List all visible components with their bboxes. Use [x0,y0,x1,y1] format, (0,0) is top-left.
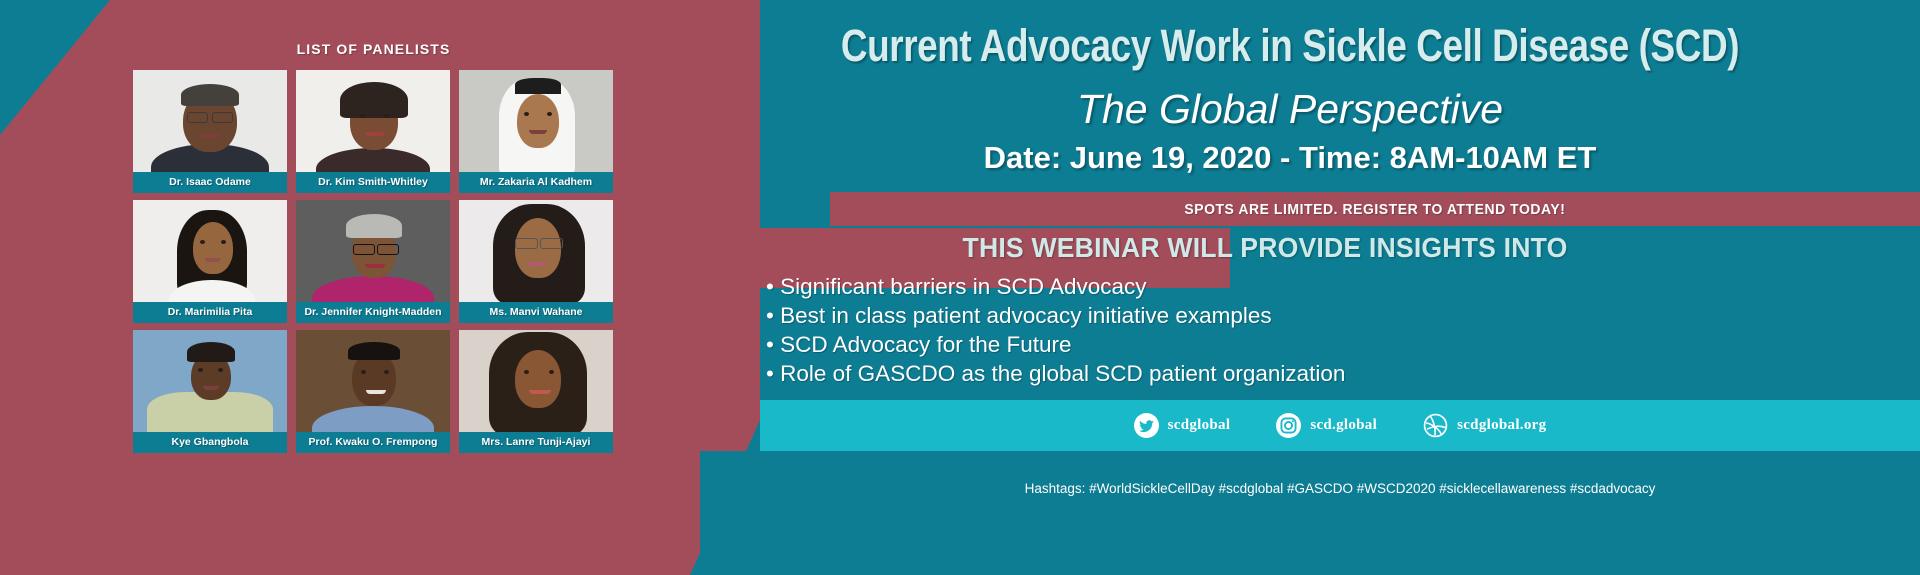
panelist-photo [133,330,287,432]
panelists-header: LIST OF PANELISTS [133,36,614,63]
panelist-name: Mrs. Lanre Tunji-Ajayi [459,432,613,453]
panelist-row: Dr. Marimilia Pita Dr. Jennifer Knight-M… [133,200,614,323]
twitter-icon [1134,413,1159,438]
social-link-website[interactable]: scdglobal.org [1423,413,1546,438]
panelist-photo [133,200,287,302]
panelist-photo [459,200,613,302]
panelist-card[interactable]: Mr. Zakaria Al Kadhem [459,70,613,193]
panelist-card[interactable]: Mrs. Lanre Tunji-Ajayi [459,330,613,453]
page-title: Current Advocacy Work in Sickle Cell Dis… [773,22,1806,69]
hashtags-text: Hashtags: #WorldSickleCellDay #scdglobal… [760,481,1920,496]
registration-banner-text: SPOTS ARE LIMITED. REGISTER TO ATTEND TO… [1184,201,1565,218]
panelist-card[interactable]: Dr. Marimilia Pita [133,200,287,323]
panelist-name: Dr. Marimilia Pita [133,302,287,323]
social-handle: scdglobal [1168,417,1231,434]
teal-corner-bottom-left [700,451,820,575]
social-link-instagram[interactable]: scd.global [1276,413,1377,438]
list-item: Role of GASCDO as the global SCD patient… [766,359,1345,388]
panelist-photo [296,70,450,172]
insights-heading: THIS WEBINAR WILL PROVIDE INSIGHTS INTO [690,232,1840,264]
social-handle: scd.global [1310,417,1377,434]
list-item: Significant barriers in SCD Advocacy [766,272,1345,301]
panelist-photo [296,200,450,302]
list-item: SCD Advocacy for the Future [766,330,1345,359]
panelist-name: Dr. Jennifer Knight-Madden [296,302,450,323]
panelist-card[interactable]: Ms. Manvi Wahane [459,200,613,323]
social-bar: scdglobal scd.global scdglobal.org [760,400,1920,451]
hashtag-bar: Hashtags: #WorldSickleCellDay #scdglobal… [760,451,1920,575]
globe-icon [1423,413,1448,438]
event-dateline: Date: June 19, 2020 - Time: 8AM-10AM ET [660,140,1920,176]
panelist-card[interactable]: Dr. Isaac Odame [133,70,287,193]
panelists-panel: LIST OF PANELISTS Dr. Isaac Odame [133,36,614,453]
instagram-icon [1276,413,1301,438]
social-link-twitter[interactable]: scdglobal [1134,413,1231,438]
registration-banner[interactable]: SPOTS ARE LIMITED. REGISTER TO ATTEND TO… [830,192,1920,226]
panelist-photo [296,330,450,432]
panelist-row: Kye Gbangbola Prof. Kwaku O. Frempong [133,330,614,453]
panelist-photo [459,70,613,172]
panelist-name: Prof. Kwaku O. Frempong [296,432,450,453]
webinar-banner: LIST OF PANELISTS Dr. Isaac Odame [0,0,1920,575]
panelist-name: Dr. Isaac Odame [133,172,287,193]
panelist-row: Dr. Isaac Odame Dr. Kim Smith-Whitley [133,70,614,193]
panelist-name: Ms. Manvi Wahane [459,302,613,323]
social-handle: scdglobal.org [1457,417,1546,434]
panelist-photo [133,70,287,172]
panelist-card[interactable]: Kye Gbangbola [133,330,287,453]
panelist-card[interactable]: Dr. Kim Smith-Whitley [296,70,450,193]
panelist-name: Mr. Zakaria Al Kadhem [459,172,613,193]
panelist-name: Kye Gbangbola [133,432,287,453]
panelist-card[interactable]: Dr. Jennifer Knight-Madden [296,200,450,323]
list-item: Best in class patient advocacy initiativ… [766,301,1345,330]
panelist-card[interactable]: Prof. Kwaku O. Frempong [296,330,450,453]
panelist-photo [459,330,613,432]
page-subtitle: The Global Perspective [660,86,1920,133]
insights-list: Significant barriers in SCD Advocacy Bes… [766,272,1345,388]
panelist-name: Dr. Kim Smith-Whitley [296,172,450,193]
